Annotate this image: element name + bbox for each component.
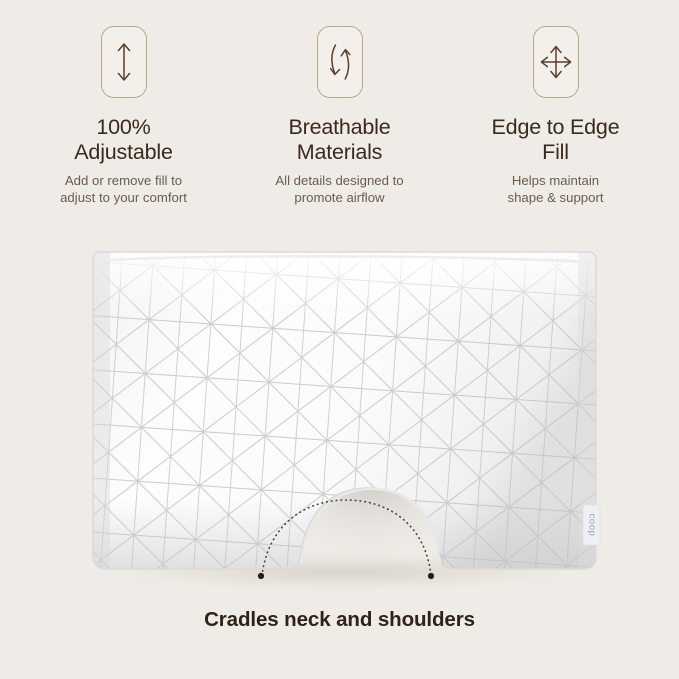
feature-description: Add or remove fill to adjust to your com… [60,173,187,206]
feature-description-line-2: shape & support [507,190,603,205]
vertical-double-arrow-glyph [111,39,137,85]
feature-description-line-2: adjust to your comfort [60,190,187,205]
brand-fabric-tag: coop [583,505,600,545]
arc-endpoint-left [258,573,264,579]
product-photo-notched-pillow: coop [0,228,679,608]
feature-title-line-1: Breathable [289,115,391,139]
feature-breathable: Breathable Materials All details designe… [232,26,448,206]
four-way-expand-arrows-glyph [539,42,573,82]
feature-title: Edge to Edge Fill [492,115,620,165]
feature-edge-to-edge-fill: Edge to Edge Fill Helps maintain shape &… [448,26,664,206]
feature-description: Helps maintain shape & support [507,173,603,206]
brand-tag-label: coop [586,513,597,536]
airflow-circulation-arrows-icon [317,26,363,98]
product-feature-infographic: 100% Adjustable Add or remove fill to ad… [0,0,679,679]
feature-title-line-1: Edge to Edge [492,115,620,139]
feature-title-line-2: Materials [297,140,382,164]
feature-description-line-2: promote airflow [294,190,384,205]
product-caption: Cradles neck and shoulders [0,608,679,632]
vertical-double-arrow-icon [101,26,147,98]
airflow-circulation-arrows-glyph [326,40,354,84]
feature-description: All details designed to promote airflow [275,173,403,206]
feature-title: Breathable Materials [289,115,391,165]
feature-title-line-1: 100% [96,115,150,139]
feature-description-line-1: Helps maintain [512,173,599,188]
four-way-expand-arrows-icon [533,26,579,98]
arc-endpoint-right [428,573,434,579]
feature-description-line-1: All details designed to [275,173,403,188]
pillow-illustration: coop [0,228,679,608]
feature-title-line-2: Fill [542,140,569,164]
feature-description-line-1: Add or remove fill to [65,173,182,188]
feature-title: 100% Adjustable [74,115,172,165]
feature-title-line-2: Adjustable [74,140,172,164]
feature-adjustable: 100% Adjustable Add or remove fill to ad… [16,26,232,206]
feature-highlights-row: 100% Adjustable Add or remove fill to ad… [0,26,679,206]
